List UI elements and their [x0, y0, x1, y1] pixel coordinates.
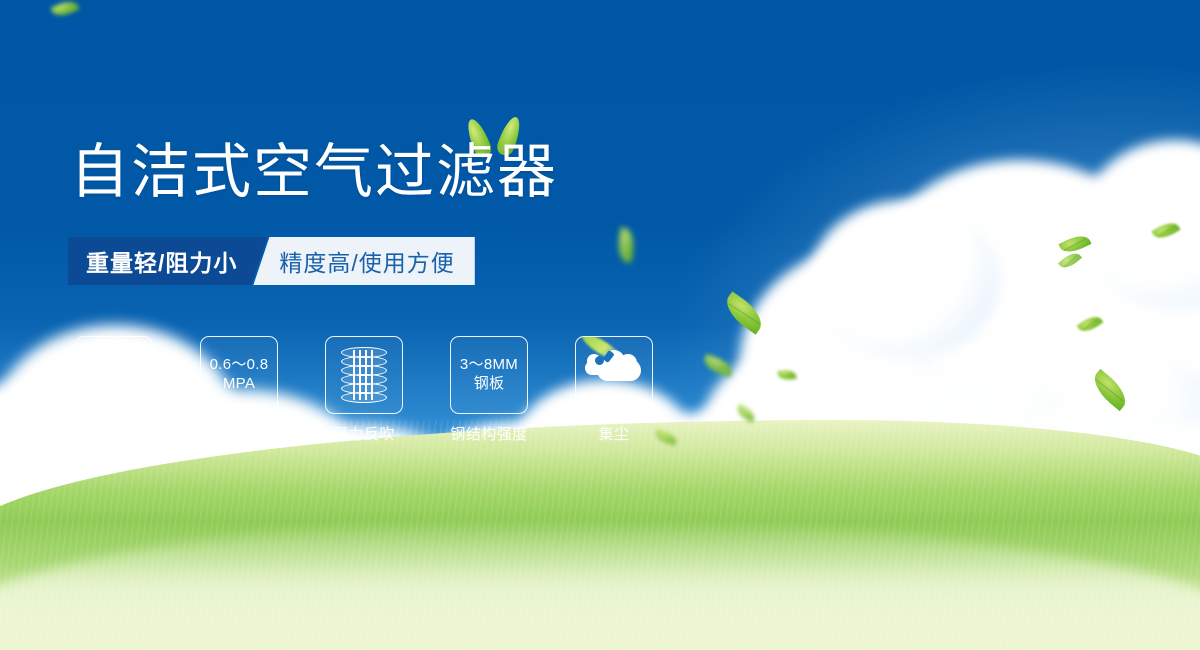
steel-material: 钢板: [460, 375, 518, 394]
pressure-unit: MPA: [210, 375, 269, 394]
product-hero-banner: 自洁式空气过滤器 重量轻/阻力小 精度高/使用方便: [0, 0, 1200, 650]
feature-label: 控制仪: [91, 423, 138, 444]
dial-label-no: NO: [82, 370, 92, 377]
cloud-air-icon: Air: [583, 347, 645, 403]
pressure-range: 0.6～0.8: [210, 356, 269, 375]
feature-label: 强力反吹: [333, 423, 395, 444]
air-label: Air: [583, 392, 645, 406]
steel-thickness: 3～8MM: [460, 356, 518, 375]
feature-item-pressure[interactable]: 0.6～0.8 MPA 二级过滤: [200, 336, 278, 444]
feature-icon-box: 0.6～0.8 MPA: [200, 336, 278, 414]
feature-label: 集尘: [598, 423, 629, 444]
feature-item-blowback[interactable]: 强力反吹: [325, 336, 403, 444]
pressure-text-icon: 0.6～0.8 MPA: [210, 356, 269, 394]
grass-field: [0, 420, 1200, 650]
feature-icon-box: NO OFF: [75, 336, 153, 414]
subtitle-right-panel: 精度高/使用方便: [253, 237, 474, 285]
grass-texture: [0, 420, 1200, 650]
steel-plate-text-icon: 3～8MM 钢板: [460, 356, 518, 394]
feature-item-steel[interactable]: 3～8MM 钢板 钢结构强度: [450, 336, 528, 444]
feature-icon-box: 3～8MM 钢板: [450, 336, 528, 414]
feature-icon-box: Air: [575, 336, 653, 414]
feature-item-dust[interactable]: Air 集尘: [575, 336, 653, 444]
feature-label: 钢结构强度: [450, 423, 528, 444]
page-title: 自洁式空气过滤器: [70, 143, 558, 202]
feature-label: 二级过滤: [208, 423, 270, 444]
control-dial-icon: NO OFF: [83, 344, 145, 406]
subtitle-bar: 重量轻/阻力小 精度高/使用方便: [68, 237, 475, 285]
filter-stack-icon: [337, 347, 391, 403]
subtitle-left-panel: 重量轻/阻力小: [68, 237, 267, 285]
feature-item-control[interactable]: NO OFF 控制仪: [75, 336, 153, 444]
feature-list: NO OFF 控制仪 0.6～0.8 MPA 二级过滤: [75, 336, 653, 444]
dial-label-off: OFF: [130, 394, 144, 401]
feature-icon-box: [325, 336, 403, 414]
